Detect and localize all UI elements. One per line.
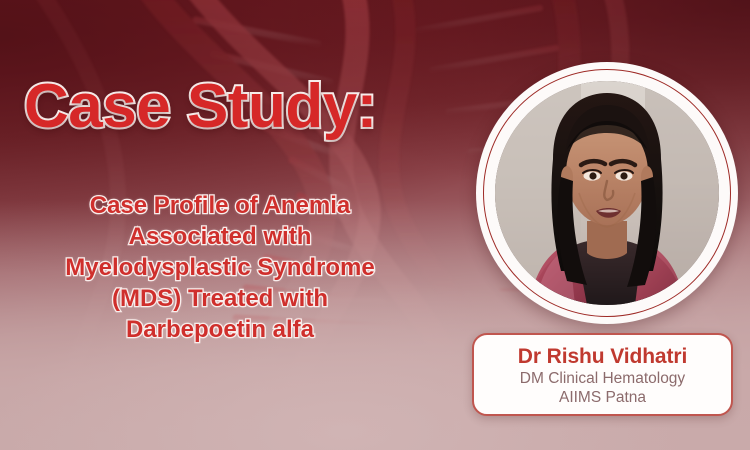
speaker-name: Dr Rishu Vidhatri (518, 344, 687, 369)
subtitle-line-5: Darbepoetin alfa (10, 314, 430, 345)
subtitle-line-1: Case Profile of Anemia (10, 190, 430, 221)
speaker-portrait (476, 62, 738, 324)
speaker-institution: AIIMS Patna (559, 388, 646, 407)
speaker-qualification: DM Clinical Hematology (520, 369, 685, 388)
subtitle-block: Case Profile of Anemia Associated with M… (10, 190, 430, 345)
page-title: Case Study: (24, 76, 494, 138)
doctor-portrait-photo-icon (495, 81, 719, 305)
subtitle-line-4: (MDS) Treated with (10, 283, 430, 314)
title-block: Case Study: (24, 76, 494, 138)
case-study-poster: Case Study: Case Profile of Anemia Assoc… (0, 0, 750, 450)
speaker-name-card: Dr Rishu Vidhatri DM Clinical Hematology… (472, 333, 733, 416)
subtitle-line-2: Associated with (10, 221, 430, 252)
subtitle-line-3: Myelodysplastic Syndrome (10, 252, 430, 283)
